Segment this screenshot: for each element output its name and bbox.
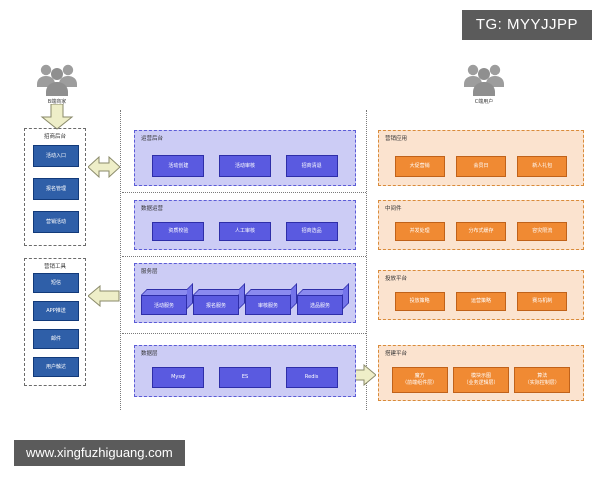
band-delivery-platform: 投放平台 投放策略 运营策略 赛马机制 <box>378 270 584 320</box>
right-item-distributed-cache[interactable]: 分布式缓存 <box>456 222 506 241</box>
right-item-horse-race[interactable]: 赛马机制 <box>517 292 567 311</box>
right-item-newcomer-gift[interactable]: 新人礼包 <box>517 156 567 177</box>
band-title: 营销应用 <box>385 134 407 142</box>
group-title: 招商后台 <box>25 132 85 140</box>
left-item-email[interactable]: 邮件 <box>33 329 79 349</box>
right-item-concurrency[interactable]: 并发处理 <box>395 222 445 241</box>
group-recruit-backend: 招商后台 活动入口 报名管理 营销活动 <box>24 128 86 246</box>
center-item-es[interactable]: ES <box>219 367 271 388</box>
band-title: 数据运营 <box>141 204 163 212</box>
chip-line-1: 模块示图 <box>471 373 491 380</box>
right-item-operation-strategy[interactable]: 运营策略 <box>456 292 506 311</box>
cube-front-face: 审核服务 <box>245 295 291 315</box>
cube-front-face: 报名服务 <box>193 295 239 315</box>
group-title: 营销工具 <box>25 262 85 270</box>
group-marketing-tools: 营销工具 短信 APP推送 邮件 用户触达 <box>24 258 86 386</box>
arrow-backend-to-center-icon <box>88 154 120 180</box>
arrow-center-to-tools-icon <box>88 285 120 307</box>
service-activity[interactable]: 活动服务 <box>141 289 193 315</box>
people-group-icon <box>462 62 506 96</box>
band-data-operations: 数据运营 资质校验 人工审核 招商选品 <box>134 200 356 250</box>
right-item-disaster-throttle[interactable]: 容灾限流 <box>517 222 567 241</box>
service-selection[interactable]: 选品服务 <box>297 289 349 315</box>
center-item-redis[interactable]: Redis <box>286 367 338 388</box>
actor-label: C端用户 <box>449 98 519 105</box>
center-item-activity-review[interactable]: 活动审核 <box>219 155 271 177</box>
center-row-divider-2 <box>122 256 366 257</box>
chip-line-1: 算法 <box>537 373 547 380</box>
right-item-member-day[interactable]: 会员日 <box>456 156 506 177</box>
band-items: 投放策略 运营策略 赛马机制 <box>379 292 583 311</box>
chip-line-2: （业务逻辑层） <box>463 380 498 387</box>
column-divider-left <box>120 110 121 410</box>
arrow-actor-to-backend-icon <box>40 104 74 130</box>
band-title: 服务层 <box>141 267 158 275</box>
left-item-user-reach[interactable]: 用户触达 <box>33 357 79 377</box>
band-build-platform: 搭建平台 魔方 （前端组件层） 模块示图 （业务逻辑层） 算法 （实际控制层） <box>378 345 584 401</box>
band-items: 活动创建 活动审核 招商清退 <box>135 155 355 177</box>
band-title: 投放平台 <box>385 274 407 282</box>
band-items: 魔方 （前端组件层） 模块示图 （业务逻辑层） 算法 （实际控制层） <box>379 367 583 393</box>
service-review[interactable]: 审核服务 <box>245 289 297 315</box>
center-item-activity-create[interactable]: 活动创建 <box>152 155 204 177</box>
people-group-icon <box>35 62 79 96</box>
service-signup[interactable]: 报名服务 <box>193 289 245 315</box>
center-item-product-selection[interactable]: 招商选品 <box>286 222 338 241</box>
right-item-mofang[interactable]: 魔方 （前端组件层） <box>392 367 448 393</box>
left-item-activity-entry[interactable]: 活动入口 <box>33 145 79 167</box>
band-service-layer: 服务层 活动服务 报名服务 审核服务 选品服务 <box>134 263 356 323</box>
actor-c-side: C端用户 <box>449 62 519 105</box>
chip-line-2: （实际控制层） <box>525 380 560 387</box>
band-items: 并发处理 分布式缓存 容灾限流 <box>379 222 583 241</box>
center-item-manual-review[interactable]: 人工审核 <box>219 222 271 241</box>
chip-line-1: 魔方 <box>415 373 425 380</box>
band-marketing-apps: 营销应用 大促营销 会员日 新人礼包 <box>378 130 584 186</box>
band-items: 资质校验 人工审核 招商选品 <box>135 222 355 241</box>
band-items: 大促营销 会员日 新人礼包 <box>379 156 583 177</box>
center-row-divider-1 <box>122 192 366 193</box>
left-item-app-push[interactable]: APP推送 <box>33 301 79 321</box>
band-items: Mysql ES Redis <box>135 367 355 388</box>
left-item-signup-mgmt[interactable]: 报名管理 <box>33 178 79 200</box>
right-item-big-promo[interactable]: 大促营销 <box>395 156 445 177</box>
center-row-divider-3 <box>122 333 366 334</box>
actor-b-side: B端商家 <box>22 62 92 105</box>
right-item-algorithm[interactable]: 算法 （实际控制层） <box>514 367 570 393</box>
band-title: 搭建平台 <box>385 349 407 357</box>
band-title: 数据层 <box>141 349 158 357</box>
chip-line-2: （前端组件层） <box>402 380 437 387</box>
left-item-sms[interactable]: 短信 <box>33 273 79 293</box>
center-item-recruit-exit[interactable]: 招商清退 <box>286 155 338 177</box>
band-title: 中间件 <box>385 204 402 212</box>
url-watermark-badge: www.xingfuzhiguang.com <box>14 440 185 466</box>
tg-watermark-badge: TG: MYYJJPP <box>462 10 592 40</box>
center-item-mysql[interactable]: Mysql <box>152 367 204 388</box>
right-item-delivery-strategy[interactable]: 投放策略 <box>395 292 445 311</box>
left-item-marketing-activity[interactable]: 营销活动 <box>33 211 79 233</box>
cube-front-face: 活动服务 <box>141 295 187 315</box>
band-data-layer: 数据层 Mysql ES Redis <box>134 345 356 397</box>
band-operations-backend: 运营后台 活动创建 活动审核 招商清退 <box>134 130 356 186</box>
band-title: 运营后台 <box>141 134 163 142</box>
center-item-qualification-check[interactable]: 资质校验 <box>152 222 204 241</box>
band-items: 活动服务 报名服务 审核服务 选品服务 <box>135 289 355 315</box>
diagram-canvas: TG: MYYJJPP www.xingfuzhiguang.com B端商家 … <box>0 0 600 480</box>
cube-side-face <box>343 283 349 309</box>
right-item-module-view[interactable]: 模块示图 （业务逻辑层） <box>453 367 509 393</box>
cube-front-face: 选品服务 <box>297 295 343 315</box>
band-middleware: 中间件 并发处理 分布式缓存 容灾限流 <box>378 200 584 250</box>
